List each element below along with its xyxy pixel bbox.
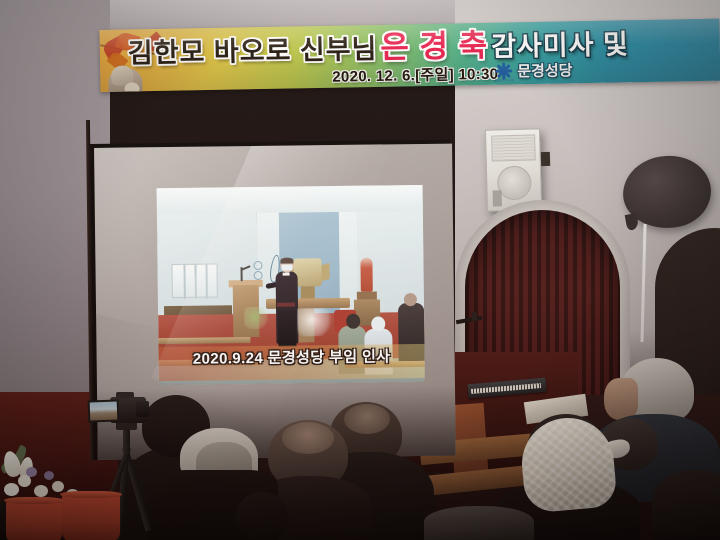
audience-member-scalp <box>282 422 334 454</box>
white-flower-icon <box>34 485 48 497</box>
purple-flower-icon <box>44 471 54 480</box>
slide-caption-text: 2020.9.24 문경성당 부임 인사 <box>158 345 424 369</box>
slide-flower-arrangement <box>297 308 333 336</box>
slide-tabernacle-wing <box>320 263 329 281</box>
slide-wall-decor-icon <box>254 271 263 280</box>
banner-highlight: 은 경 축 <box>380 28 488 65</box>
audience-member-scalp <box>344 404 390 434</box>
projected-slide: 2020.9.24 문경성당 부임 인사 <box>157 185 425 385</box>
slide-wall-decor-icon <box>253 261 262 270</box>
speaker-tweeter-grill <box>491 134 536 161</box>
camera-lcd-screen <box>88 399 120 422</box>
audience-member <box>424 506 534 540</box>
audience-member-head <box>236 492 288 540</box>
slide-priest-collar <box>283 273 290 276</box>
speaker-mount-bracket <box>541 152 550 166</box>
slide-window <box>171 263 217 298</box>
camera-lcd-preview <box>90 402 118 421</box>
slide-congregant-head <box>346 314 360 329</box>
slide-ceiling <box>157 185 423 214</box>
curtain-hook-knob <box>472 312 477 321</box>
flower-basket <box>62 494 120 540</box>
speaker-badge <box>493 190 502 206</box>
basket-rim <box>4 497 64 504</box>
slide-flower-arrangement <box>244 307 268 329</box>
camera-lens-icon <box>136 401 149 417</box>
slide-priest-face-mask <box>281 265 292 271</box>
white-flower-icon <box>18 475 31 487</box>
pa-speaker <box>485 128 542 211</box>
logo-subtext: 문경천주교회 <box>494 77 514 82</box>
slide-priest-belt <box>277 303 295 307</box>
celebration-banner: 김한모 바오로 신부님은 경 축감사미사 및 2020. 12. 6.[주일] … <box>99 19 720 92</box>
basket-rim <box>60 491 122 498</box>
audience-member <box>652 470 720 540</box>
slide-priest-hair <box>280 258 293 264</box>
photograph-canvas: 김한모 바오로 신부님은 경 축감사미사 및 2020. 12. 6.[주일] … <box>0 0 720 540</box>
white-flower-icon <box>4 483 19 496</box>
banner-suffix: 감사미사 및 <box>491 29 629 62</box>
slide-pew <box>158 337 250 344</box>
speaker-woofer-icon <box>497 166 532 201</box>
snowflake-cross-logo-icon: 문경천주교회 <box>495 62 512 79</box>
audience-member-face <box>604 378 638 420</box>
flower-basket <box>6 500 62 540</box>
slide-congregant-head <box>371 316 385 331</box>
slide-congregant-head <box>404 293 417 306</box>
parish-name: 문경성당 <box>517 59 573 81</box>
slide-priest-legs <box>278 310 296 346</box>
camcorder-top-handle <box>116 392 134 398</box>
slide-saint-statue <box>360 258 372 292</box>
banner-datetime: 2020. 12. 6.[주일] 10:30 <box>332 63 498 87</box>
banner-organization: 문경천주교회 문경성당 <box>495 59 573 81</box>
white-flower-icon <box>52 481 64 492</box>
banner-priest-name: 김한모 바오로 신부님 <box>128 34 378 69</box>
slide-statue-base <box>357 292 377 300</box>
